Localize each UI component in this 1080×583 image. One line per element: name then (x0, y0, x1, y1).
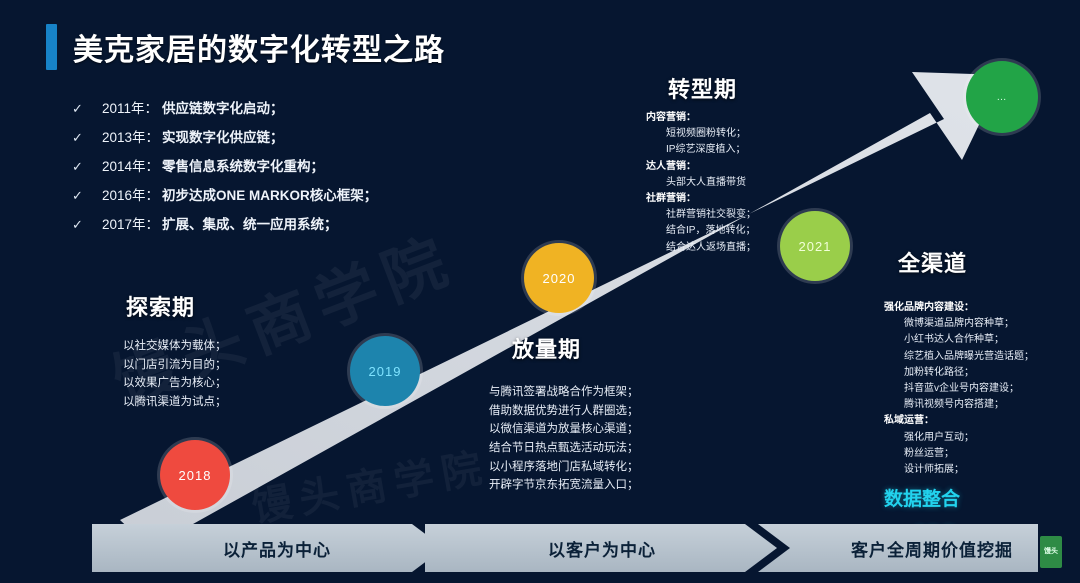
chevron-label-1[interactable]: 以产品为中心 (132, 524, 422, 572)
timeline-node-future[interactable]: … (966, 61, 1038, 133)
bottom-chevron-bar: 以产品为中心 以客户为中心 客户全周期价值挖掘 (92, 524, 1038, 572)
list-item: 粉丝运营； (884, 446, 1080, 462)
check-icon: ✓ (72, 159, 102, 175)
phase-body-fangliang: 与腾讯签署战略合作为框架； 借助数据优势进行人群圈选； 以微信渠道为放量核心渠道… (489, 383, 719, 495)
list-item: 以效果广告为核心； (123, 374, 323, 393)
title-accent-bar (46, 24, 57, 70)
timeline-node-2020[interactable]: 2020 (524, 243, 594, 313)
checklist-year: 2014年： (102, 155, 162, 175)
check-icon: ✓ (72, 217, 102, 233)
phase-heading-quanqudao: 全渠道 (898, 246, 967, 278)
list-item: 结合达人返场直播； (646, 240, 866, 256)
list-item: 以门店引流为目的； (123, 356, 323, 375)
phase-heading-zhuanxing: 转型期 (668, 72, 737, 104)
list-item: 社群营销社交裂变； (646, 207, 866, 223)
title-text: 美克家居的数字化转型之路 (73, 25, 445, 69)
list-item: 短视频圈粉转化； (646, 126, 866, 142)
group-title: 私域运营： (884, 413, 1080, 429)
list-item: 腾讯视频号内容搭建； (884, 397, 1080, 413)
list-item: 综艺植入品牌曝光营造话题； (884, 349, 1080, 365)
list-item: ✓ 2017年： 扩展、集成、统一应用系统； (72, 213, 377, 233)
list-item: 开辟字节京东拓宽流量入口； (489, 476, 719, 495)
group-title: 达人营销： (646, 159, 866, 175)
list-item: ✓ 2011年： 供应链数字化启动； (72, 97, 377, 117)
history-checklist: ✓ 2011年： 供应链数字化启动； ✓ 2013年： 实现数字化供应链； ✓ … (72, 97, 377, 242)
checklist-year: 2016年： (102, 184, 162, 204)
list-item: 结合节日热点甄选活动玩法； (489, 439, 719, 458)
checklist-text: 扩展、集成、统一应用系统； (162, 213, 338, 233)
list-item: 以社交媒体为载体； (123, 337, 323, 356)
phase-body-quanqudao: 强化品牌内容建设： 微博渠道品牌内容种草； 小红书达人合作种草； 综艺植入品牌曝… (884, 300, 1080, 552)
chevron-label-3[interactable]: 客户全周期价值挖掘 (782, 524, 1080, 572)
checklist-year: 2011年： (102, 97, 162, 117)
watermark-text-secondary: 馒头商学院 (247, 435, 493, 534)
phase-body-zhuanxing: 内容营销： 短视频圈粉转化； IP综艺深度植入； 达人营销： 头部大人直播带货 … (646, 110, 866, 256)
list-item: 头部大人直播带货 (646, 175, 866, 191)
checklist-year: 2013年： (102, 126, 162, 146)
checklist-year: 2017年： (102, 213, 162, 233)
timeline-node-2019[interactable]: 2019 (350, 336, 420, 406)
check-icon: ✓ (72, 130, 102, 146)
phase-body-tansuo: 以社交媒体为载体； 以门店引流为目的； 以效果广告为核心； 以腾讯渠道为试点； (123, 337, 323, 412)
checklist-text: 实现数字化供应链； (162, 126, 284, 146)
list-item: 结合IP，落地转化； (646, 223, 866, 239)
check-icon: ✓ (72, 101, 102, 117)
list-item: 借助数据优势进行人群圈选； (489, 402, 719, 421)
list-item: 微博渠道品牌内容种草； (884, 316, 1080, 332)
list-item: 小红书达人合作种草； (884, 332, 1080, 348)
group-title: 社群营销： (646, 191, 866, 207)
list-item: IP综艺深度植入； (646, 142, 866, 158)
checklist-text: 初步达成ONE MARKOR核心框架； (162, 184, 377, 204)
chevron-label-2[interactable]: 以客户为中心 (452, 524, 752, 572)
list-item: 强化用户互动； (884, 430, 1080, 446)
list-item: 加粉转化路径； (884, 365, 1080, 381)
list-item: ✓ 2014年： 零售信息系统数字化重构； (72, 155, 377, 175)
list-item: ✓ 2016年： 初步达成ONE MARKOR核心框架； (72, 184, 377, 204)
group-title: 强化品牌内容建设： (884, 300, 1080, 316)
phase-heading-fangliang: 放量期 (512, 332, 581, 364)
highlight-data-integration: 数据整合 (884, 485, 1080, 516)
list-item: 以微信渠道为放量核心渠道； (489, 420, 719, 439)
list-item: ✓ 2013年： 实现数字化供应链； (72, 126, 377, 146)
list-item: 以腾讯渠道为试点； (123, 393, 323, 412)
brand-logo: 馒头 (1040, 536, 1062, 568)
slide-title: 美克家居的数字化转型之路 (46, 24, 445, 70)
group-title: 内容营销： (646, 110, 866, 126)
check-icon: ✓ (72, 188, 102, 204)
phase-heading-tansuo: 探索期 (126, 290, 195, 322)
checklist-text: 供应链数字化启动； (162, 97, 284, 117)
slide-canvas: 馒头商学院 馒头商学院 美克家居的数字化转型之路 ✓ 2011年： 供应链数字化… (0, 0, 1080, 583)
list-item: 抖音蓝v企业号内容建设； (884, 381, 1080, 397)
list-item: 以小程序落地门店私域转化； (489, 458, 719, 477)
checklist-text: 零售信息系统数字化重构； (162, 155, 324, 175)
list-item: 设计师拓展； (884, 462, 1080, 478)
list-item: 与腾讯签署战略合作为框架； (489, 383, 719, 402)
timeline-node-2018[interactable]: 2018 (160, 440, 230, 510)
